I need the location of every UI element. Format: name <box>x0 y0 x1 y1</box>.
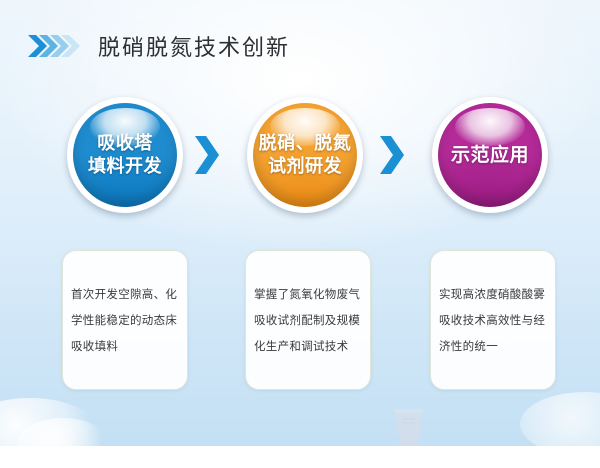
flow-node-2[interactable]: 脱硝、脱氮 试剂研发 <box>247 97 363 213</box>
flow-card-1: 首次开发空隙高、化学性能稳定的动态床吸收填料 <box>62 250 188 390</box>
flow-node-3[interactable]: 示范应用 <box>432 97 548 213</box>
flow-card-2: 掌握了氮氧化物废气吸收试剂配制及规模化生产和调试技术 <box>245 250 371 390</box>
flow-card-2-text: 掌握了氮氧化物废气吸收试剂配制及规模化生产和调试技术 <box>254 281 362 359</box>
flow-circle-orange: 脱硝、脱氮 试剂研发 <box>253 103 357 207</box>
slide-canvas: 脱硝脱氮技术创新 吸收塔 填料开发 脱硝、脱氮 试剂研发 <box>0 0 600 446</box>
flow-node-1-label: 吸收塔 填料开发 <box>88 132 162 178</box>
flow-node-3-label: 示范应用 <box>451 144 529 167</box>
flow-diagram: 吸收塔 填料开发 脱硝、脱氮 试剂研发 示范应用 <box>0 0 600 446</box>
flow-node-1[interactable]: 吸收塔 填料开发 <box>67 97 183 213</box>
flow-node-2-label: 脱硝、脱氮 试剂研发 <box>259 132 352 178</box>
flow-circle-blue: 吸收塔 填料开发 <box>73 103 177 207</box>
flow-card-1-text: 首次开发空隙高、化学性能稳定的动态床吸收填料 <box>71 281 179 359</box>
chevron-right-icon <box>193 136 221 174</box>
flow-circle-magenta: 示范应用 <box>438 103 542 207</box>
chevron-right-icon <box>378 136 406 174</box>
flow-card-3: 实现高浓度硝酸酸雾吸收技术高效性与经济性的统一 <box>430 250 556 390</box>
flow-card-3-text: 实现高浓度硝酸酸雾吸收技术高效性与经济性的统一 <box>439 281 547 359</box>
